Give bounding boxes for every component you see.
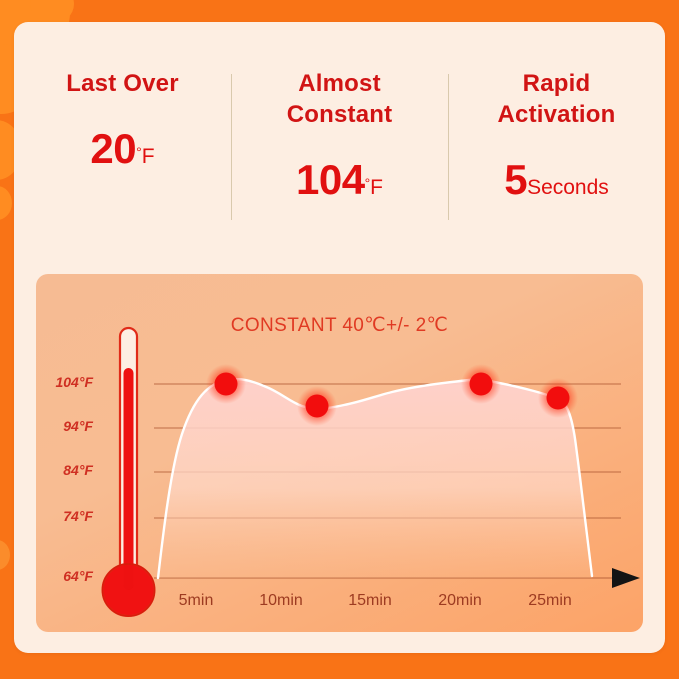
y-tick-label: 94°F — [36, 418, 93, 434]
stat-title-line1: Rapid — [497, 68, 615, 99]
y-tick-label: 104°F — [36, 374, 93, 390]
stat-almost-constant: Almost Constant 104F — [231, 66, 448, 246]
stat-number: 20 — [90, 125, 136, 172]
stat-number: 104 — [296, 156, 365, 203]
stat-unit: Seconds — [527, 176, 609, 199]
temperature-chart-panel: CONSTANT 40℃+/- 2℃ — [36, 274, 643, 632]
y-tick-label: 64°F — [36, 568, 93, 584]
y-tick-label: 84°F — [36, 462, 93, 478]
stat-title-line1: Almost — [287, 68, 393, 99]
stat-value: 5Seconds — [504, 156, 609, 204]
background-blob — [0, 186, 12, 220]
stat-title-line2: Activation — [497, 99, 615, 130]
stat-unit: F — [136, 145, 154, 168]
data-point-marker — [538, 378, 578, 418]
stat-value: 20F — [90, 125, 154, 173]
background-blob — [0, 540, 10, 570]
stat-number: 5 — [504, 156, 527, 203]
infographic-root: Last Over 20F Almost Constant 104F Rapid… — [0, 0, 679, 679]
stat-title: Almost Constant — [287, 68, 393, 130]
stat-last-over: Last Over 20F — [14, 66, 231, 246]
temperature-plot — [36, 274, 643, 632]
x-tick-label: 15min — [330, 592, 410, 610]
x-tick-label: 25min — [510, 592, 590, 610]
y-tick-label: 74°F — [36, 508, 93, 524]
stat-value: 104F — [296, 156, 383, 204]
data-point-marker — [461, 364, 501, 404]
content-card: Last Over 20F Almost Constant 104F Rapid… — [14, 22, 665, 653]
stat-unit: F — [365, 176, 383, 199]
stat-rapid-activation: Rapid Activation 5Seconds — [448, 66, 665, 246]
x-tick-label: 5min — [156, 592, 236, 610]
data-point-marker — [297, 386, 337, 426]
x-tick-label: 20min — [420, 592, 500, 610]
data-point-marker — [206, 364, 246, 404]
stat-title: Rapid Activation — [497, 68, 615, 130]
stats-strip: Last Over 20F Almost Constant 104F Rapid… — [14, 66, 665, 246]
x-tick-label: 10min — [241, 592, 321, 610]
background-blob — [30, 0, 74, 24]
area-fill — [158, 379, 592, 578]
axis-arrow-icon — [612, 568, 640, 588]
stat-title-line2: Constant — [287, 99, 393, 130]
stat-title: Last Over — [66, 68, 179, 99]
